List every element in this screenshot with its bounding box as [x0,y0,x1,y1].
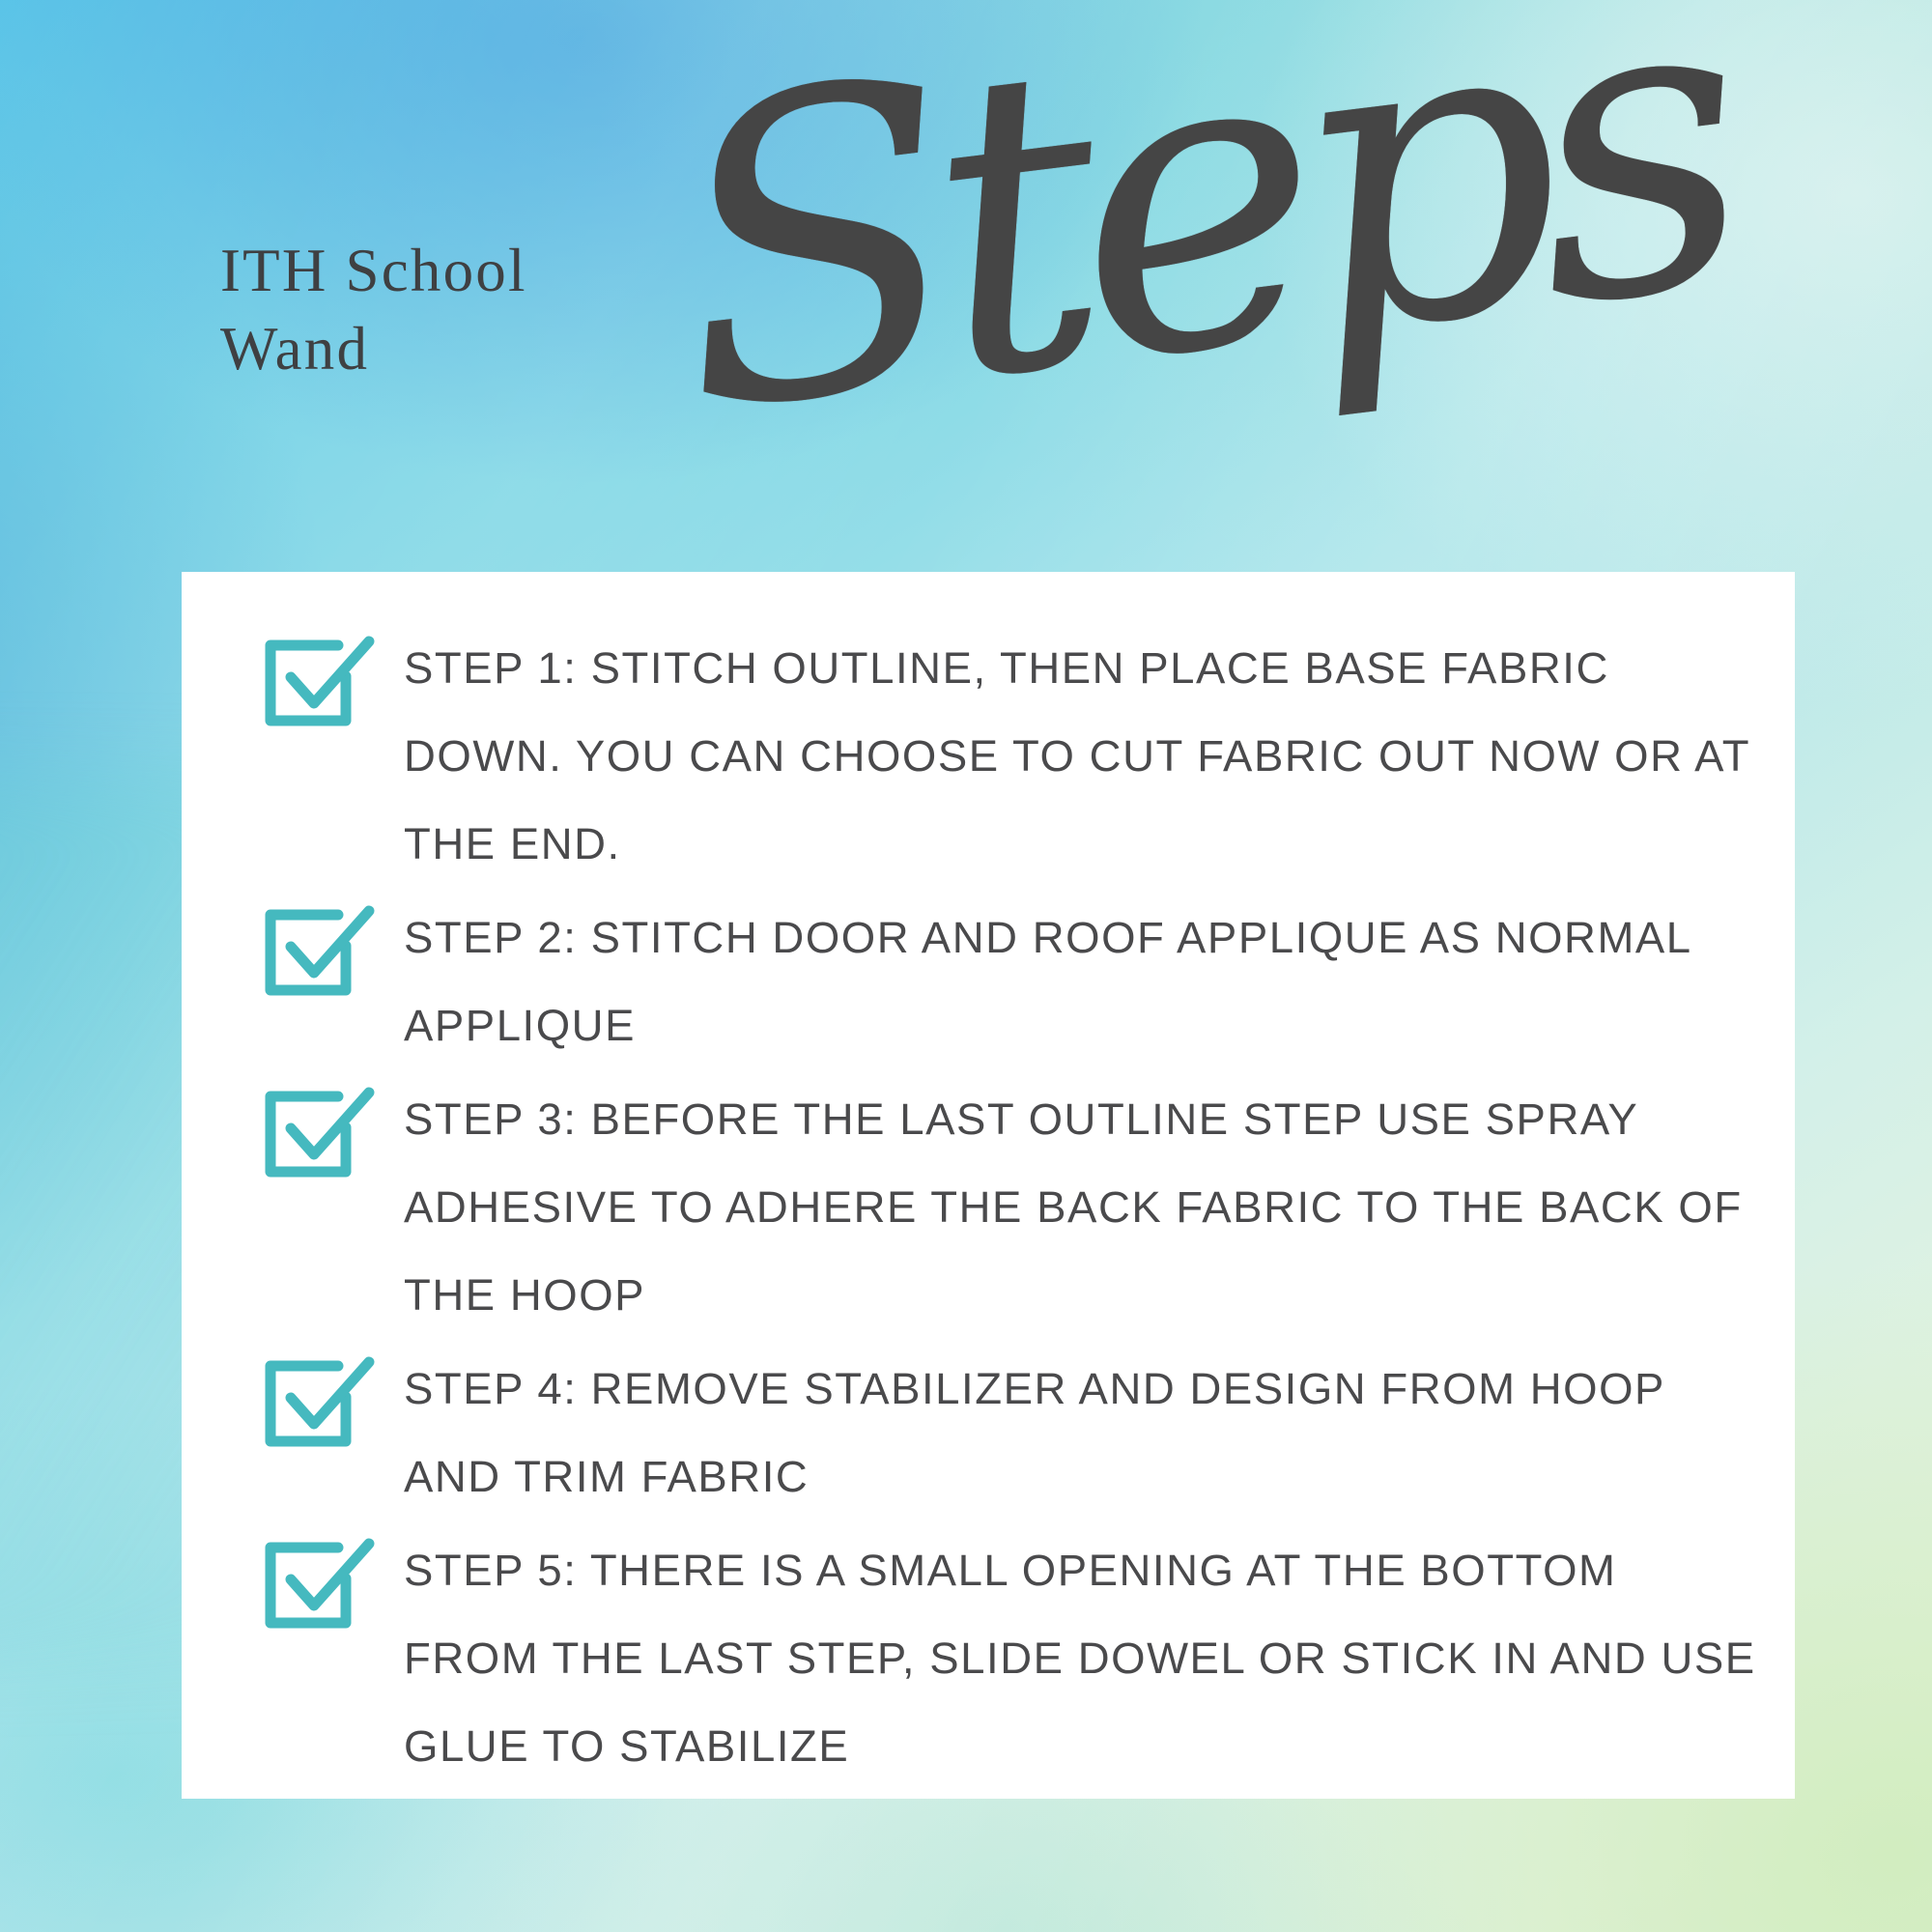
checklist-item[interactable]: STEP 1: STITCH OUTLINE, THEN PLACE BASE … [261,620,1760,888]
checklist-item[interactable]: STEP 2: STITCH DOOR AND ROOF APPLIQUE AS… [261,890,1760,1069]
checklist-item-label: STEP 3: BEFORE THE LAST OUTLINE STEP USE… [404,1071,1760,1339]
checklist-item[interactable]: STEP 4: REMOVE STABILIZER AND DESIGN FRO… [261,1341,1760,1520]
checked-checkbox-icon[interactable] [261,1083,379,1187]
steps-list: STEP 1: STITCH OUTLINE, THEN PLACE BASE … [261,620,1760,1792]
steps-poster: ITH School Wand Steps STEP 1: STITCH OUT… [0,0,1932,1932]
checklist-item-label: STEP 2: STITCH DOOR AND ROOF APPLIQUE AS… [404,890,1760,1069]
steps-card: STEP 1: STITCH OUTLINE, THEN PLACE BASE … [182,572,1795,1799]
checklist-item[interactable]: STEP 5: THERE IS A SMALL OPENING AT THE … [261,1522,1760,1790]
checklist-item-label: STEP 5: THERE IS A SMALL OPENING AT THE … [404,1522,1760,1790]
checked-checkbox-icon[interactable] [261,1352,379,1457]
checklist-item-label: STEP 1: STITCH OUTLINE, THEN PLACE BASE … [404,620,1760,888]
poster-kicker-title: ITH School Wand [220,232,674,389]
checklist-item[interactable]: STEP 3: BEFORE THE LAST OUTLINE STEP USE… [261,1071,1760,1339]
checked-checkbox-icon[interactable] [261,901,379,1006]
checklist-item-label: STEP 4: REMOVE STABILIZER AND DESIGN FRO… [404,1341,1760,1520]
checked-checkbox-icon[interactable] [261,632,379,736]
checked-checkbox-icon[interactable] [261,1534,379,1638]
